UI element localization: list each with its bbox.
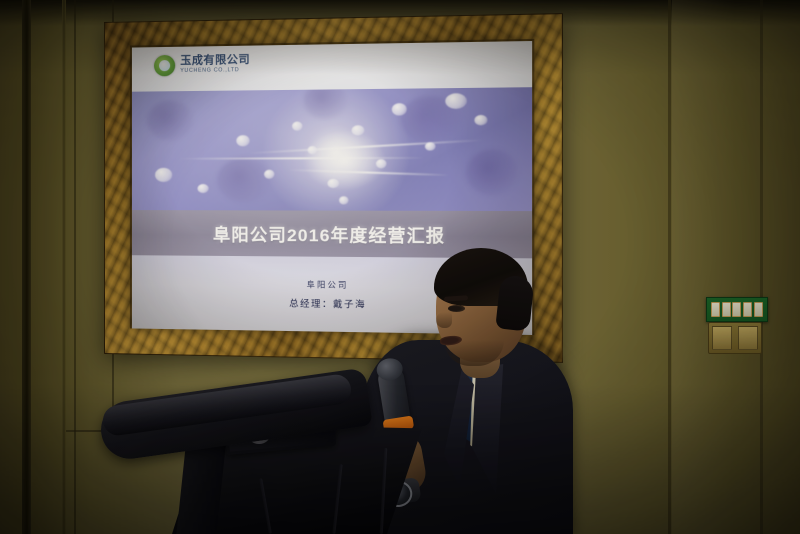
hero-white-sphere xyxy=(236,135,249,146)
slide-logo-bar: 玉成有限公司 YUCHENG CO.,LTD xyxy=(132,41,532,92)
hero-white-sphere xyxy=(155,167,172,181)
exit-sign-character xyxy=(754,302,763,317)
hero-white-sphere xyxy=(292,121,302,130)
wall-panel-seam-right-b xyxy=(760,0,763,534)
hero-dark-sphere xyxy=(466,149,518,195)
slide-hero-graphic xyxy=(132,87,532,211)
presentation-room-photo: 玉成有限公司 YUCHENG CO.,LTD xyxy=(0,0,800,534)
nose xyxy=(436,312,452,328)
exit-sign-character xyxy=(711,302,720,317)
hero-white-sphere xyxy=(264,170,274,179)
hero-white-sphere xyxy=(445,93,467,109)
hero-white-sphere xyxy=(474,115,487,126)
lectern xyxy=(86,368,446,534)
hero-light-beam xyxy=(178,157,424,159)
hero-white-sphere xyxy=(339,196,348,204)
company-name-cn: 玉成有限公司 xyxy=(180,55,250,67)
right-wall-highlight xyxy=(672,0,762,534)
hero-dark-sphere xyxy=(147,101,193,142)
hero-white-sphere xyxy=(197,184,208,193)
hero-dark-sphere xyxy=(217,157,272,202)
wall-panel-seam-right-a xyxy=(668,0,671,534)
slide-subtitle-company: 阜阳公司 xyxy=(307,279,349,291)
wall-recess-groove-secondary xyxy=(62,0,66,534)
hero-white-sphere xyxy=(425,142,436,150)
wall-recess-groove xyxy=(22,0,31,534)
hero-dark-sphere xyxy=(304,87,348,119)
company-name-en: YUCHENG CO.,LTD xyxy=(180,68,250,74)
exit-sign-character xyxy=(732,302,741,317)
panel-segment xyxy=(712,326,732,350)
hero-white-sphere xyxy=(376,160,387,169)
eye xyxy=(448,305,465,312)
logo-text-block: 玉成有限公司 YUCHENG CO.,LTD xyxy=(180,55,250,74)
panel-segment xyxy=(738,326,758,350)
wall-mounted-panel xyxy=(708,322,762,354)
yucheng-logo-icon xyxy=(154,55,175,76)
hair-sideburn xyxy=(495,274,534,331)
wall-panel-seam-left xyxy=(74,0,76,534)
emergency-exit-sign xyxy=(706,297,768,322)
exit-sign-character xyxy=(743,302,752,317)
exit-sign-character xyxy=(722,302,731,317)
hero-glow-core xyxy=(304,130,386,190)
company-logo: 玉成有限公司 YUCHENG CO.,LTD xyxy=(154,54,250,77)
